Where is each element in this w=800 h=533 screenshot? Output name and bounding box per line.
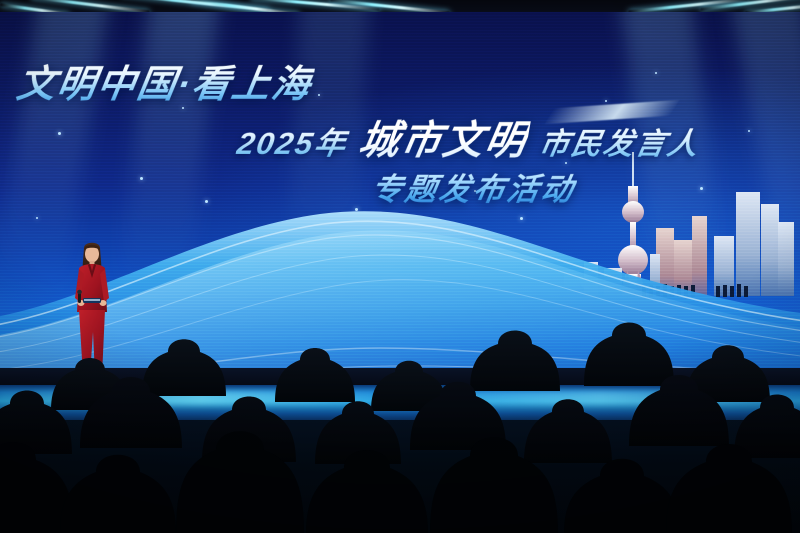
audience-silhouettes xyxy=(0,300,800,533)
event-photo-stage: 文明中国·看上海 2025年 城市文明 市民发言人 专题发布活动 xyxy=(0,0,800,533)
headline-main-phrase: 城市文明 xyxy=(355,108,533,166)
star-dot xyxy=(182,107,184,109)
star-dot xyxy=(605,100,607,102)
star-dot xyxy=(748,130,750,132)
star-dot xyxy=(262,152,264,154)
star-dot xyxy=(97,77,99,79)
star-dot xyxy=(318,94,320,96)
star-dot xyxy=(58,132,61,135)
star-dot xyxy=(655,72,657,74)
star-dot xyxy=(420,130,422,132)
